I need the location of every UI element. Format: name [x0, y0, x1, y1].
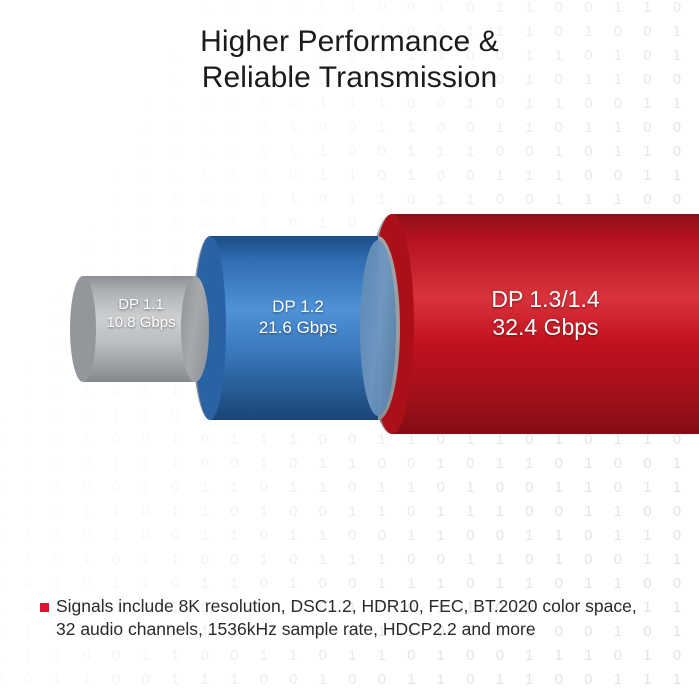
binary-row: 1 1 0 1 0 1 1 0 0 1 0 1 1 1 0 0 1 1 0 1 … — [0, 552, 699, 567]
binary-row: 0 0 1 1 0 1 1 0 0 1 0 1 1 1 0 0 1 0 1 1 … — [0, 96, 699, 111]
binary-row: 1 1 0 1 0 0 1 1 1 0 0 1 1 0 1 0 0 1 1 1 … — [0, 168, 699, 183]
binary-row: 0 1 1 0 0 1 0 1 0 1 1 1 0 0 1 1 1 0 0 1 … — [0, 144, 699, 159]
binary-row: 0 1 1 0 1 0 0 1 1 1 0 1 1 0 0 1 0 1 1 0 … — [0, 0, 699, 15]
binary-row: 0 0 1 0 1 1 0 1 1 0 1 0 0 1 1 1 0 1 1 0 … — [0, 576, 699, 591]
binary-row: 1 0 0 1 1 0 1 1 0 1 0 0 1 1 0 1 1 1 0 0 … — [0, 504, 699, 519]
infographic-page: 0 1 1 0 1 0 0 1 1 1 0 1 1 0 0 1 0 1 1 0 … — [0, 0, 699, 700]
binary-row: 1 0 1 0 1 1 0 1 1 0 1 0 0 1 1 0 0 1 1 0 … — [0, 120, 699, 135]
cable-bandwidth-diagram — [0, 190, 699, 460]
bullet-item-text: Signals include 8K resolution, DSC1.2, H… — [56, 595, 661, 641]
feature-bullet-list: Signals include 8K resolution, DSC1.2, H… — [40, 595, 665, 641]
page-title-line-2: Reliable Transmission — [0, 60, 699, 96]
binary-row: 0 1 1 0 0 1 0 1 1 0 1 1 0 1 1 0 1 0 0 1 … — [0, 480, 699, 495]
binary-row: 1 1 1 0 0 1 1 0 0 1 1 0 1 1 0 1 0 0 1 1 … — [0, 648, 699, 663]
binary-row: 0 1 1 0 1 0 0 1 1 0 1 1 0 0 1 1 0 0 1 1 … — [0, 528, 699, 543]
binary-row: 0 0 1 1 0 0 1 1 1 0 0 1 0 0 1 1 0 1 1 0 … — [0, 672, 699, 687]
cable-segment-dp13 — [366, 214, 699, 434]
bullet-square-icon — [40, 603, 49, 612]
page-title: Higher Performance & Reliable Transmissi… — [0, 24, 699, 96]
cable-segment-dp12 — [192, 236, 400, 420]
cable-segment-dp11 — [70, 276, 209, 382]
page-title-line-1: Higher Performance & — [0, 24, 699, 60]
